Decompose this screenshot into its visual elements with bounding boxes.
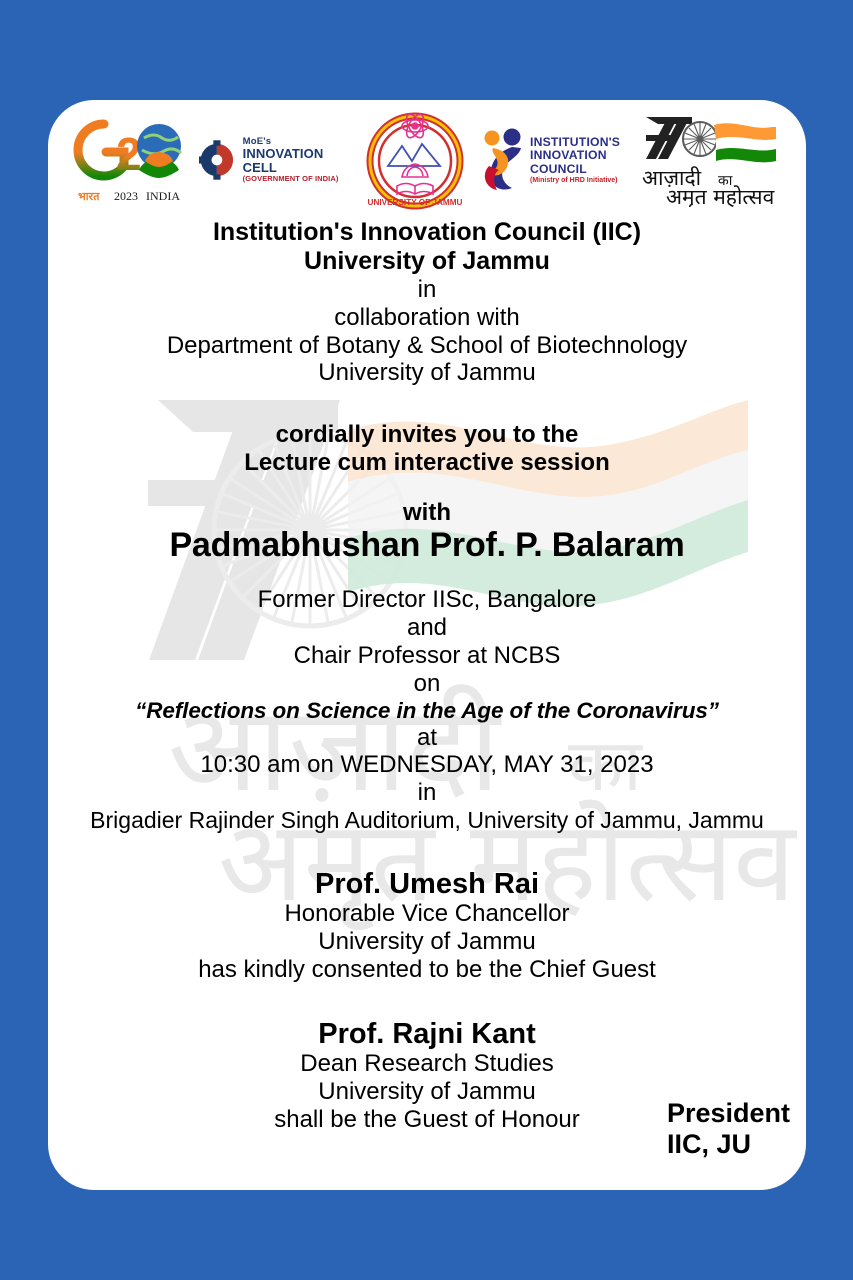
- signoff-line-2: IIC, JU: [667, 1129, 790, 1160]
- speaker-role-1: Former Director IISc, Bangalore: [48, 586, 806, 614]
- svg-text:2023: 2023: [114, 189, 138, 203]
- iic-line3: COUNCIL: [530, 163, 620, 177]
- svg-text:INDIA: INDIA: [146, 189, 180, 203]
- chief-guest-affiliation: University of Jammu: [48, 928, 806, 956]
- logo-strip: 2 भारत 2023 INDIA: [48, 104, 806, 216]
- azadi-line2: अमृत महोत्सव: [666, 185, 775, 207]
- signoff-line-1: President: [667, 1098, 790, 1129]
- invite-line-1: cordially invites you to the: [48, 421, 806, 449]
- collaboration-label: collaboration with: [48, 304, 806, 332]
- uoj-ring-text: UNIVERSITY OF JAMMU: [368, 198, 463, 207]
- with-label: with: [48, 499, 806, 527]
- chief-guest-name: Prof. Umesh Rai: [48, 868, 806, 900]
- chief-guest-designation: Honorable Vice Chancellor: [48, 900, 806, 928]
- guest-of-honour-name: Prof. Rajni Kant: [48, 1018, 806, 1050]
- in-label: in: [48, 779, 806, 807]
- speaker-name: Padmabhushan Prof. P. Balaram: [48, 527, 806, 564]
- iic-line4: (Ministry of HRD Initiative): [530, 177, 620, 185]
- g20-india-logo: 2 भारत 2023 INDIA: [64, 108, 186, 213]
- svg-text:2: 2: [116, 128, 142, 180]
- institutions-innovation-council-logo: INSTITUTION'S INNOVATION COUNCIL (Minist…: [481, 120, 627, 200]
- invite-line-2: Lecture cum interactive session: [48, 449, 806, 477]
- host-line-2: University of Jammu: [48, 247, 806, 276]
- event-venue: Brigadier Rajinder Singh Auditorium, Uni…: [48, 807, 806, 834]
- moe-line2: INNOVATION CELL: [243, 147, 349, 174]
- moe-line3: (GOVERNMENT OF INDIA): [243, 175, 349, 183]
- and-label: and: [48, 614, 806, 642]
- speaker-role-2: Chair Professor at NCBS: [48, 642, 806, 670]
- on-label: on: [48, 670, 806, 698]
- at-label: at: [48, 724, 806, 752]
- collaborator-line-1: Department of Botany & School of Biotech…: [48, 332, 806, 360]
- chief-guest-note: has kindly consented to be the Chief Gue…: [48, 956, 806, 984]
- azadi-ka-amrit-mahotsav-logo: आज़ादी का अमृत महोत्सव: [640, 109, 790, 212]
- guest-of-honour-designation: Dean Research Studies: [48, 1050, 806, 1078]
- event-datetime: 10:30 am on WEDNESDAY, MAY 31, 2023: [48, 751, 806, 779]
- host-line-1: Institution's Innovation Council (IIC): [48, 218, 806, 247]
- gear-brain-icon: [199, 138, 237, 182]
- invitation-text: Institution's Innovation Council (IIC) U…: [48, 218, 806, 1134]
- svg-text:भारत: भारत: [78, 190, 100, 203]
- collaborator-line-2: University of Jammu: [48, 359, 806, 387]
- moe-innovation-cell-logo: MoE's INNOVATION CELL (GOVERNMENT OF IND…: [199, 125, 349, 195]
- iic-figures-icon: [481, 126, 525, 194]
- signoff-block: President IIC, JU: [667, 1098, 790, 1160]
- invitation-poster: आज़ादी का अमृत महोत्सव: [0, 0, 853, 1280]
- invitation-card: आज़ादी का अमृत महोत्सव: [48, 100, 806, 1190]
- university-of-jammu-emblem: UNIVERSITY OF JAMMU: [362, 106, 468, 215]
- iic-line1: INSTITUTION'S: [530, 136, 620, 150]
- connector-in: in: [48, 276, 806, 304]
- lecture-title: “Reflections on Science in the Age of th…: [48, 698, 806, 724]
- iic-line2: INNOVATION: [530, 149, 620, 163]
